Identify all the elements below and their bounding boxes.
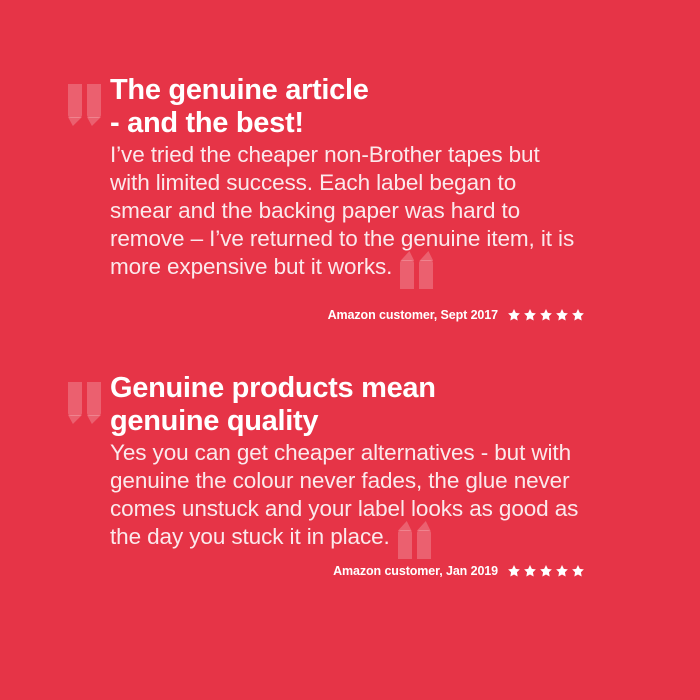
testimonials-panel: The genuine article - and the best! I’ve… xyxy=(0,0,700,700)
attribution-label: Amazon customer, Jan 2019 xyxy=(333,564,498,578)
star-icon xyxy=(571,308,585,322)
star-icon xyxy=(523,564,537,578)
attribution: Amazon customer, Sept 2017 xyxy=(328,308,585,322)
close-quote-icon xyxy=(399,260,436,283)
testimonial-text-wrap: I’ve tried the cheaper non-Brother tapes… xyxy=(110,141,582,283)
testimonial-body: Yes you can get cheaper alternatives - b… xyxy=(110,440,578,549)
testimonial-body: I’ve tried the cheaper non-Brother tapes… xyxy=(110,142,574,279)
quote-body: The genuine article - and the best! I’ve… xyxy=(110,74,582,283)
star-rating xyxy=(507,564,585,578)
star-icon xyxy=(507,564,521,578)
star-icon xyxy=(555,564,569,578)
attribution-label: Amazon customer, Sept 2017 xyxy=(328,308,498,322)
testimonial-card: Genuine products mean genuine quality Ye… xyxy=(0,372,700,553)
star-icon xyxy=(555,308,569,322)
star-icon xyxy=(571,564,585,578)
star-icon xyxy=(539,308,553,322)
star-rating xyxy=(507,308,585,322)
testimonial-card: The genuine article - and the best! I’ve… xyxy=(0,74,700,283)
quote-body: Genuine products mean genuine quality Ye… xyxy=(110,372,582,553)
star-icon xyxy=(523,308,537,322)
open-quote-icon xyxy=(68,382,104,416)
testimonial-headline: The genuine article - and the best! xyxy=(110,74,582,140)
testimonial-headline: Genuine products mean genuine quality xyxy=(110,372,582,438)
star-icon xyxy=(539,564,553,578)
attribution: Amazon customer, Jan 2019 xyxy=(333,564,585,578)
close-quote-icon xyxy=(397,530,434,553)
star-icon xyxy=(507,308,521,322)
open-quote-icon xyxy=(68,84,104,118)
testimonial-text-wrap: Yes you can get cheaper alternatives - b… xyxy=(110,439,582,553)
